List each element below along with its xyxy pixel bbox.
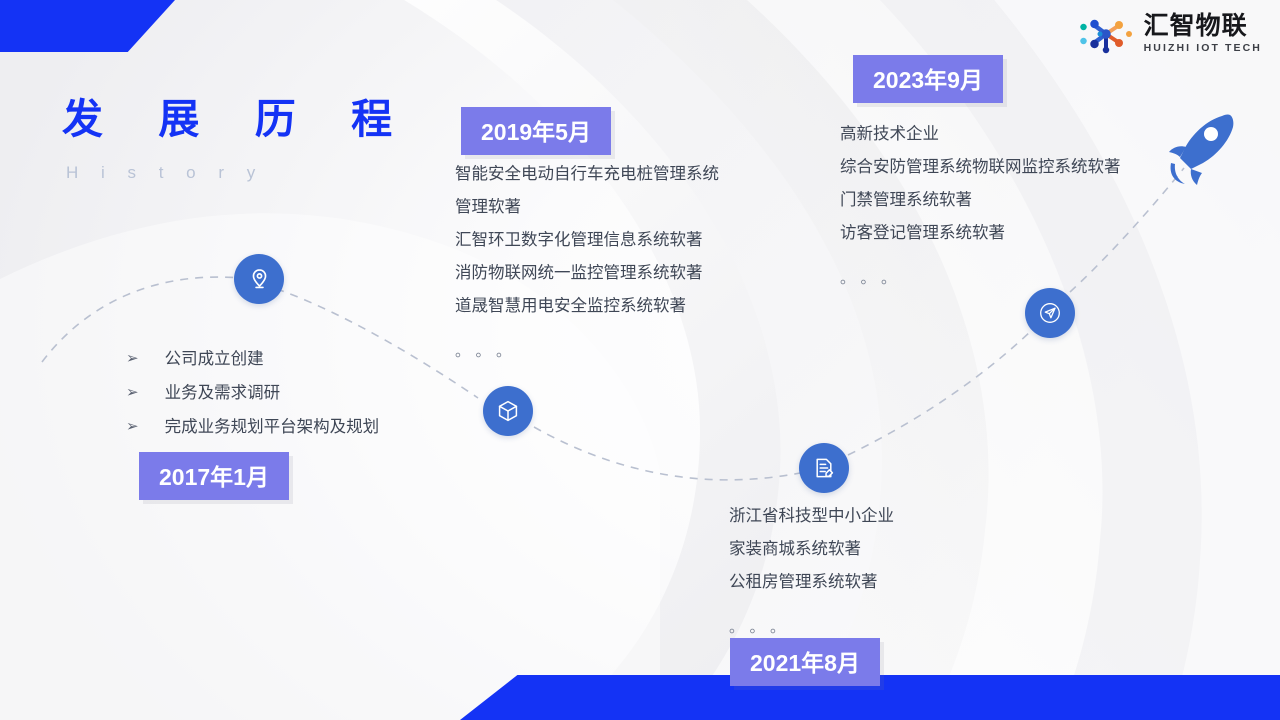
- list-item: 汇智环卫数字化管理信息系统软著: [455, 224, 719, 257]
- list-item: 高新技术企业: [840, 118, 1121, 151]
- list-item-label: 完成业务规划平台架构及规划: [165, 410, 380, 444]
- cube-icon: [496, 399, 520, 423]
- page-subtitle: H i s t o r y: [66, 163, 414, 183]
- page-title-block: 发 展 历 程 H i s t o r y: [62, 96, 414, 183]
- list-item: 管理软著: [455, 191, 719, 224]
- company-logo: 汇智物联 HUIZHI IOT TECH: [1079, 14, 1262, 54]
- paper-plane-icon: [1036, 299, 1064, 327]
- logo-name-cn: 汇智物联: [1144, 14, 1262, 39]
- list-item: ➢ 业务及需求调研: [126, 376, 379, 410]
- list-item: 公租房管理系统软著: [729, 566, 894, 599]
- list-item: 综合安防管理系统物联网监控系统软著: [840, 151, 1121, 184]
- top-left-accent-shape: [0, 0, 175, 52]
- list-item: ➢ 完成业务规划平台架构及规划: [126, 410, 379, 444]
- list-item: 道晟智慧用电安全监控系统软著: [455, 290, 719, 323]
- date-badge-2017[interactable]: 2017年1月: [139, 452, 289, 500]
- rocket-icon: [1160, 108, 1240, 188]
- document-edit-icon: [812, 456, 836, 480]
- bullet-arrow-icon: ➢: [126, 342, 139, 376]
- ellipsis-2019: 。。。: [455, 335, 719, 368]
- milestone-items-2019: 智能安全电动自行车充电桩管理系统 管理软著 汇智环卫数字化管理信息系统软著 消防…: [455, 158, 719, 368]
- milestone-items-2023: 高新技术企业 综合安防管理系统物联网监控系统软著 门禁管理系统软著 访客登记管理…: [840, 118, 1121, 295]
- date-badge-2021[interactable]: 2021年8月: [730, 638, 880, 686]
- list-item: ➢ 公司成立创建: [126, 342, 379, 376]
- location-pin-icon: [247, 267, 272, 292]
- list-item-label: 业务及需求调研: [165, 376, 281, 410]
- date-badge-2023[interactable]: 2023年9月: [853, 55, 1003, 103]
- list-item: 门禁管理系统软著: [840, 184, 1121, 217]
- list-item: 消防物联网统一监控管理系统软著: [455, 257, 719, 290]
- milestone-node-2021[interactable]: [799, 443, 849, 493]
- ellipsis-2023: 。。。: [840, 262, 1121, 295]
- list-item: 浙江省科技型中小企业: [729, 500, 894, 533]
- milestone-node-2019[interactable]: [483, 386, 533, 436]
- milestone-items-2017: ➢ 公司成立创建 ➢ 业务及需求调研 ➢ 完成业务规划平台架构及规划: [126, 342, 379, 444]
- list-item: 智能安全电动自行车充电桩管理系统: [455, 158, 719, 191]
- list-item: 访客登记管理系统软著: [840, 217, 1121, 250]
- list-item: 家装商城系统软著: [729, 533, 894, 566]
- logo-name-en: HUIZHI IOT TECH: [1144, 43, 1262, 54]
- list-item-label: 公司成立创建: [165, 342, 264, 376]
- milestone-node-2023[interactable]: [1025, 288, 1075, 338]
- slide-canvas: 发 展 历 程 H i s t o r y 汇智物联 HUIZHI IOT T: [0, 0, 1280, 720]
- date-badge-2019[interactable]: 2019年5月: [461, 107, 611, 155]
- bullet-arrow-icon: ➢: [126, 376, 139, 410]
- page-title: 发 展 历 程: [62, 96, 414, 143]
- milestone-node-2017[interactable]: [234, 254, 284, 304]
- milestone-items-2021: 浙江省科技型中小企业 家装商城系统软著 公租房管理系统软著 。。。: [729, 500, 894, 644]
- bullet-arrow-icon: ➢: [126, 410, 139, 444]
- logo-molecule-icon: [1079, 14, 1135, 54]
